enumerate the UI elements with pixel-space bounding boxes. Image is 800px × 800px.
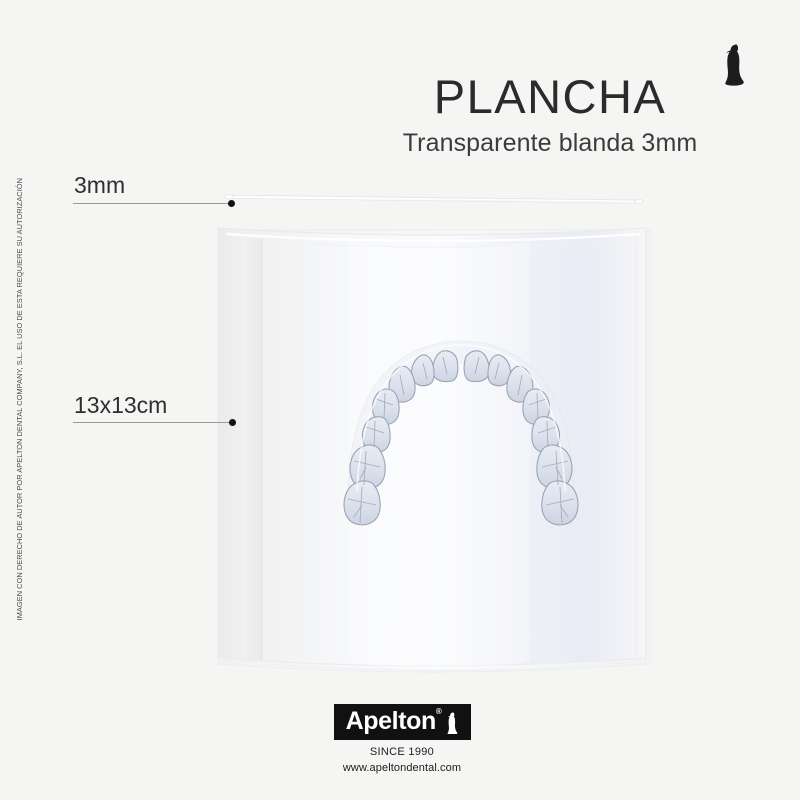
brand-wordmark: Apelton® bbox=[346, 709, 442, 734]
brand-since-text: SINCE 1990 bbox=[252, 746, 552, 758]
callout-dimensions-label: 13x13cm bbox=[74, 392, 167, 419]
brand-website-text: www.apeltondental.com bbox=[252, 762, 552, 774]
brand-name: Apelton bbox=[346, 707, 436, 735]
callout-dimensions-leader-line bbox=[73, 422, 234, 423]
callout-thickness-leader-line bbox=[73, 203, 232, 204]
copyright-notice: IMAGEN CON DERECHO DE AUTOR POR APELTON … bbox=[13, 178, 27, 668]
product-subtitle: Transparente blanda 3mm bbox=[340, 129, 760, 158]
callout-thickness-dot bbox=[228, 200, 235, 207]
sheet-thickness-edge-view bbox=[222, 186, 646, 208]
registered-trademark-icon: ® bbox=[436, 707, 442, 716]
callout-thickness-label: 3mm bbox=[74, 172, 125, 199]
dental-arch-illustration bbox=[330, 333, 592, 533]
brand-logo: Apelton® bbox=[334, 704, 471, 740]
product-title-block: PLANCHA Transparente blanda 3mm bbox=[340, 72, 760, 158]
page-title: PLANCHA bbox=[340, 72, 760, 122]
callout-dimensions-dot bbox=[229, 419, 236, 426]
product-image-canvas: PLANCHA Transparente blanda 3mm IMAGEN C… bbox=[0, 0, 800, 800]
penguin-icon bbox=[446, 712, 459, 734]
